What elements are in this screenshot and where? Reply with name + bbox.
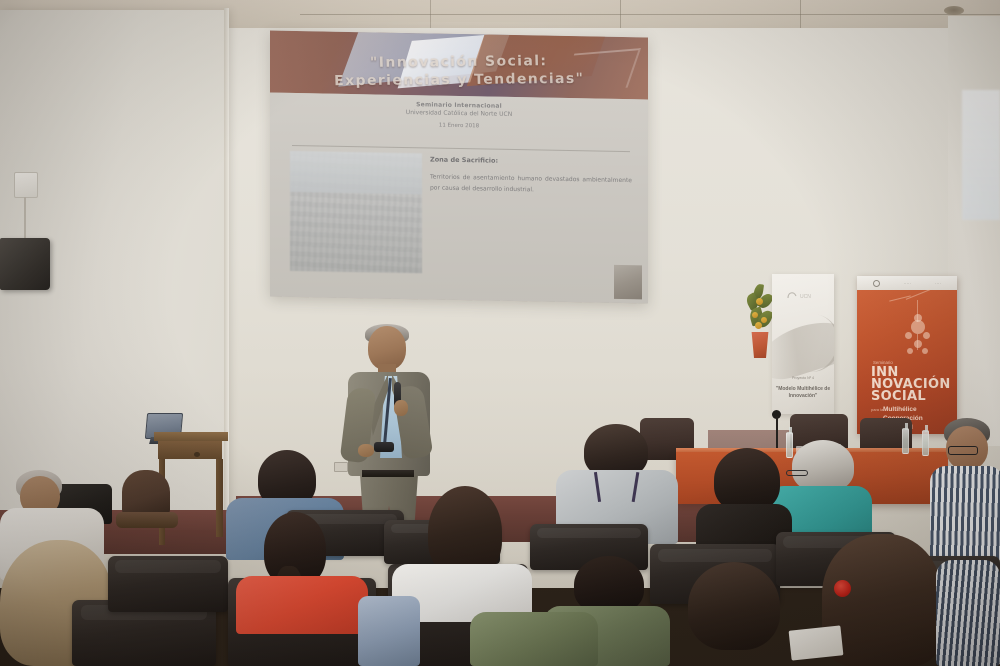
conference-room-photo: "Innovación Social: Experiencias y Tende…	[0, 0, 1000, 666]
hair-flower-accessory-icon	[834, 580, 851, 597]
window-light	[962, 90, 1000, 220]
water-bottle-icon	[902, 428, 909, 454]
hair	[688, 562, 780, 650]
audience-member-denim	[358, 596, 420, 666]
wooden-chair	[116, 470, 178, 552]
slide-text-block: Zona de Sacrificio: Territorios de asent…	[430, 155, 632, 197]
logo-text: ····	[935, 281, 941, 286]
banner-white-title: "Modelo Multihélice de Innovación"	[775, 386, 831, 401]
loudspeaker-icon	[0, 238, 50, 290]
auditorium-chair	[108, 556, 228, 612]
side-table-leg	[216, 459, 223, 537]
slide-section-heading: Zona de Sacrificio:	[430, 155, 632, 167]
belt	[362, 470, 414, 477]
presentation-clicker-icon	[374, 442, 394, 452]
ucn-logo-icon: UCN	[785, 288, 821, 300]
paper	[789, 625, 844, 660]
banner-orange-subtitle-1: para la	[871, 407, 883, 412]
audience-member-orange-top	[236, 512, 372, 634]
audience-paper-handout	[790, 628, 842, 658]
water-bottle-icon	[922, 430, 929, 456]
banner-logo-strip: ····· ····	[857, 276, 957, 290]
ceiling-tile-seam	[800, 0, 801, 30]
banner-graphic-shard	[561, 48, 641, 93]
chair-backrest	[122, 470, 170, 514]
side-table-top	[154, 432, 228, 441]
audience-member-dark-front	[672, 562, 798, 666]
slide-body-text: Territorios de asentamiento humano devas…	[430, 172, 632, 197]
side-table-drawer	[158, 441, 222, 459]
presenter-hand-right	[394, 400, 408, 416]
hair-gray	[792, 440, 854, 492]
chair-seat	[116, 512, 178, 528]
banner-network-graphic	[901, 300, 935, 366]
cable	[24, 197, 26, 239]
logo-mark-icon	[873, 280, 880, 287]
logo-text: ·····	[904, 281, 912, 286]
drawer-knob-icon	[194, 452, 200, 457]
torso	[470, 612, 598, 666]
slide-thumbnail-image	[614, 265, 642, 300]
eyeglasses-icon	[948, 446, 978, 455]
projection-screen: "Innovación Social: Experiencias y Tende…	[270, 31, 648, 304]
denim-garment	[358, 596, 420, 666]
electrical-box-icon	[14, 172, 38, 198]
banner-orange-title-3: SOCIAL	[871, 389, 926, 404]
banner-white-caption: Proyecto Nº 4	[775, 376, 831, 380]
slide-body: Seminario Internacional Universidad Cató…	[270, 93, 648, 304]
slide-photo	[290, 151, 422, 273]
banner-orange-innovacion-social: ····· ···· Seminario INN NOVACIÓN SOCIAL…	[857, 276, 957, 434]
slide-photo-sky	[290, 151, 422, 194]
slide-header-banner	[270, 31, 648, 100]
svg-text:UCN: UCN	[800, 294, 811, 300]
torso	[236, 576, 368, 634]
banner-orange-subtitle-2: Multihélice	[883, 406, 917, 413]
hair	[714, 448, 780, 512]
slide-date: 11 Enero 2018	[270, 120, 648, 133]
banner-white-multihelice: UCN Proyecto Nº 4 "Modelo Multihélice de…	[772, 274, 834, 414]
ceiling-light-icon	[944, 6, 964, 15]
audience-member-front-right	[936, 560, 1000, 666]
torso-striped	[936, 560, 1000, 666]
audience-member-green-shirt	[470, 612, 600, 666]
ceiling-tile-seam	[300, 14, 1000, 15]
presenter-hand-left	[358, 444, 374, 457]
presentation-slide: "Innovación Social: Experiencias y Tende…	[270, 31, 648, 304]
